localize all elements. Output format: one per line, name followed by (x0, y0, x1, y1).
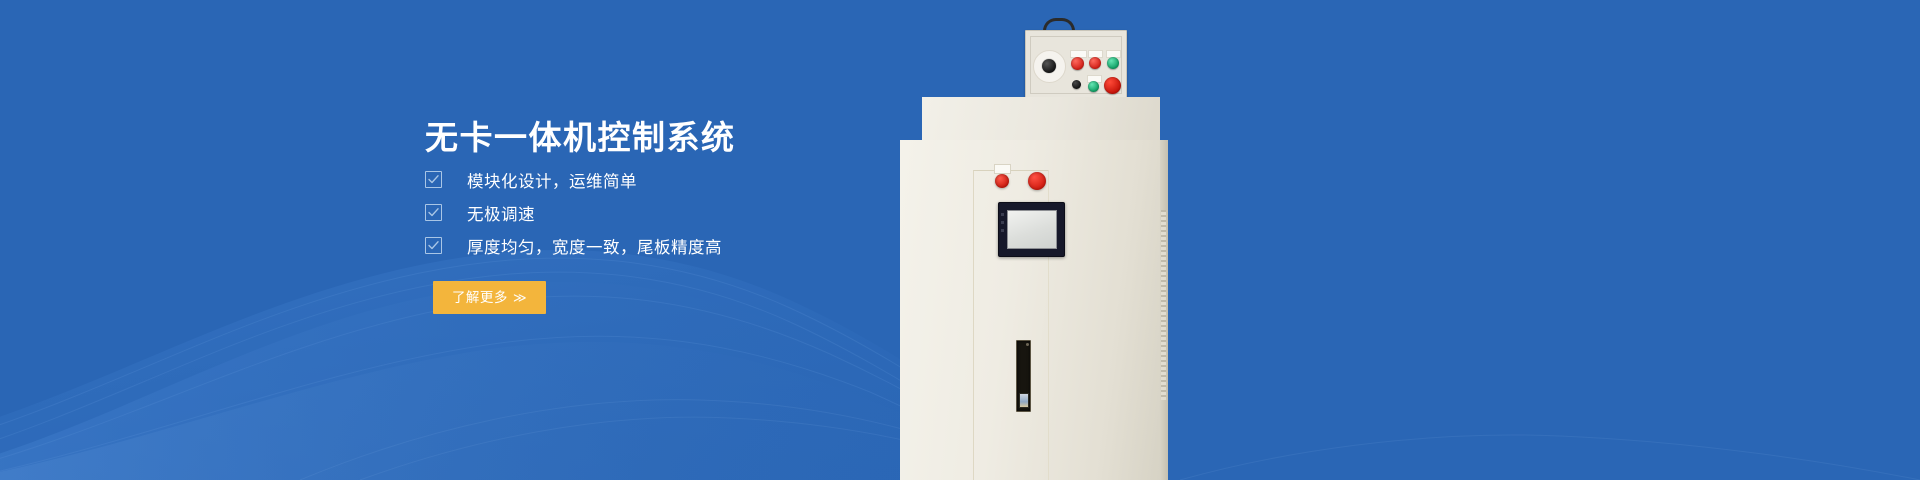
double-chevron-right-icon: ≫ (513, 291, 527, 304)
rotary-selector-knob (1033, 50, 1066, 83)
indicator-lamp-red-1 (1071, 57, 1084, 70)
hmi-screen-surface (1007, 210, 1057, 249)
cabinet-upper-section (922, 97, 1160, 141)
latch-key (1019, 393, 1029, 408)
emergency-stop-button (1104, 77, 1121, 94)
checkbox-checked-icon (425, 237, 442, 254)
learn-more-button[interactable]: 了解更多 ≫ (433, 281, 546, 314)
checkbox-checked-icon (425, 171, 442, 188)
push-button-black (1072, 80, 1081, 89)
door-emergency-stop (1028, 172, 1046, 190)
hmi-touchscreen (998, 202, 1065, 257)
hmi-side-keys (1001, 213, 1004, 237)
cabinet-body (900, 140, 1168, 480)
latch-screw (1026, 343, 1029, 346)
list-item: 无极调速 (425, 196, 722, 229)
indicator-lamp-red-2 (1089, 57, 1101, 69)
feature-label: 模块化设计，运维简单 (467, 168, 637, 192)
door-indicator-lamp-red (995, 174, 1009, 188)
list-item: 厚度均匀，宽度一致，尾板精度高 (425, 229, 722, 262)
list-item: 模块化设计，运维简单 (425, 163, 722, 196)
product-photo-control-cabinet (900, 0, 1920, 480)
cabinet-door-latch (1016, 340, 1031, 412)
feature-list: 模块化设计，运维简单 无极调速 厚度均匀，宽度一致，尾板精度高 (425, 163, 722, 262)
indicator-lamp-green-1 (1107, 57, 1119, 69)
cabinet-vent-slots (1161, 210, 1166, 400)
push-button-green (1088, 81, 1099, 92)
page-title: 无卡一体机控制系统 (425, 118, 736, 158)
feature-label: 无极调速 (467, 201, 535, 225)
feature-label: 厚度均匀，宽度一致，尾板精度高 (467, 234, 722, 258)
checkbox-checked-icon (425, 204, 442, 221)
learn-more-label: 了解更多 (452, 291, 508, 305)
hero-banner: 无卡一体机控制系统 模块化设计，运维简单 无极调速 (0, 0, 1920, 480)
door-lamp-label (994, 164, 1011, 174)
control-panel-box (1025, 30, 1127, 100)
